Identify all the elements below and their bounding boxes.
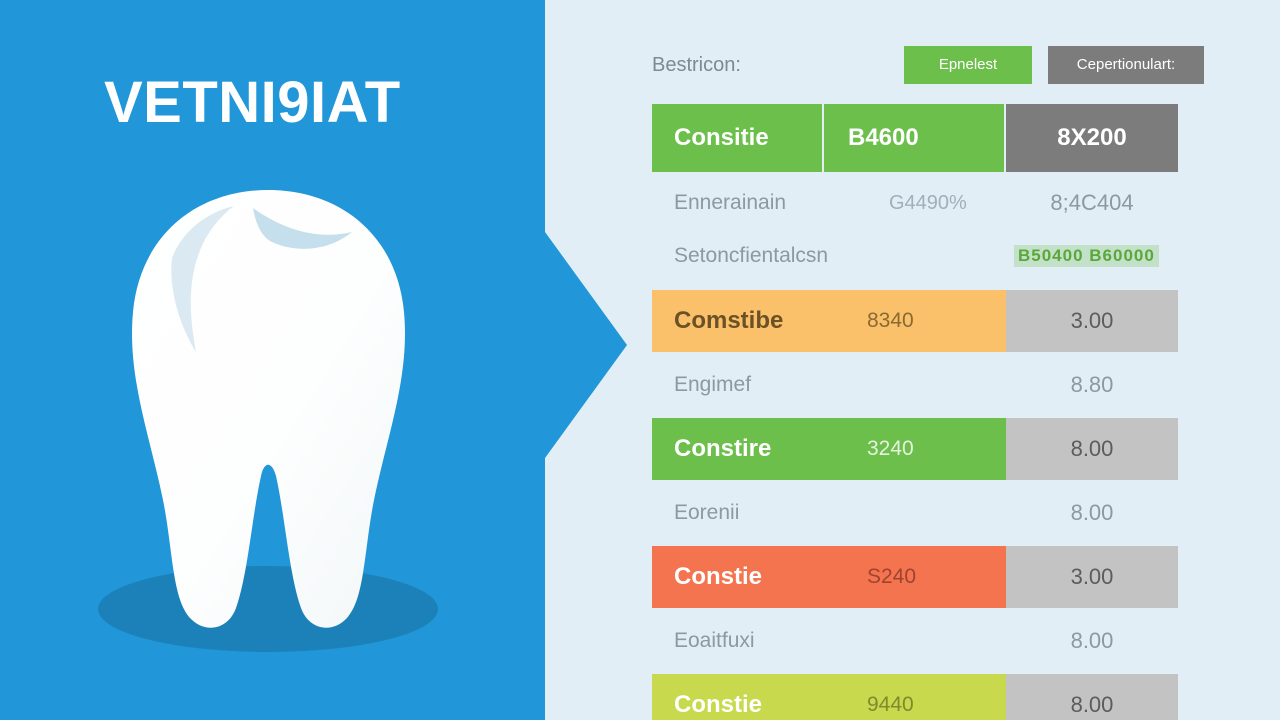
header-label: Bestricon:	[652, 54, 741, 77]
row-cell-label: Engimef	[674, 373, 751, 397]
row-cell-label: Constie	[652, 563, 762, 591]
row-cell-value: 3240	[867, 418, 914, 480]
row-main-cell: Constie	[652, 546, 1006, 608]
right-data-panel: Bestricon: Epnelest Cepertionulart: Cons…	[628, 0, 1280, 720]
row-cell-label: Constire	[652, 435, 771, 463]
row-cell-secondary: 3.00	[1006, 546, 1178, 608]
tooth-shadow	[98, 566, 438, 652]
row-cell-label: Comstibe	[652, 307, 783, 335]
table-row[interactable]: Constire 3240 8.00	[652, 418, 1208, 480]
row-cell-label: Consitie	[652, 104, 822, 172]
row-cell-highlight-value: B50400 B60000	[1014, 245, 1159, 267]
table-row[interactable]: Consitie B4600 8X200	[652, 104, 1208, 172]
table-header: Bestricon: Epnelest Cepertionulart:	[652, 46, 1208, 88]
table-row[interactable]: Constie S240 3.00	[652, 546, 1208, 608]
row-cell-label: Ennerainain	[674, 191, 786, 215]
row-cell-secondary: 8.00	[1006, 628, 1178, 654]
row-main-cell: Constire	[652, 418, 1006, 480]
data-table: Consitie B4600 8X200 Ennerainain G4490% …	[652, 104, 1208, 720]
row-main-cell: Constie	[652, 674, 1006, 720]
row-cell-secondary: 8.80	[1006, 372, 1178, 398]
table-row[interactable]: Eoaitfuxi 8.00	[652, 618, 1208, 664]
row-cell-secondary: 8.00	[1006, 674, 1178, 720]
table-row[interactable]: Setoncfientalcsn B50400 B60000	[652, 236, 1208, 282]
row-cell-secondary: 8.00	[1006, 500, 1178, 526]
row-cell-secondary: 8.00	[1006, 418, 1178, 480]
row-cell-value: 9440	[867, 674, 914, 720]
status-badge-gray[interactable]: Cepertionulart:	[1048, 46, 1204, 84]
row-cell-value: B4600	[824, 104, 1004, 172]
page-title: VETNI9IAT	[104, 74, 401, 132]
row-cell-value: S240	[867, 546, 916, 608]
left-brand-panel: VETNI9IAT	[0, 0, 628, 720]
infographic-canvas: VETNI9IAT Bestricon: Epnelest Cepertionu…	[0, 0, 1280, 720]
row-cell-label: Constie	[652, 691, 762, 719]
row-cell-value: 8340	[867, 290, 914, 352]
status-badge-green[interactable]: Epnelest	[904, 46, 1032, 84]
row-cell-value: G4490%	[889, 192, 967, 215]
row-cell-label: Eoaitfuxi	[674, 629, 755, 653]
table-row[interactable]: Comstibe 8340 3.00	[652, 290, 1208, 352]
row-cell-secondary: 8;4C404	[1006, 190, 1178, 216]
row-cell-secondary: 8X200	[1006, 104, 1178, 172]
row-cell-label: Eorenii	[674, 501, 739, 525]
table-row[interactable]: Constie 9440 8.00	[652, 674, 1208, 720]
row-main-cell: Comstibe	[652, 290, 1006, 352]
table-row[interactable]: Eorenii 8.00	[652, 490, 1208, 536]
table-row[interactable]: Ennerainain G4490% 8;4C404	[652, 180, 1208, 226]
row-cell-label: Setoncfientalcsn	[674, 244, 828, 268]
row-cell-secondary: 3.00	[1006, 290, 1178, 352]
table-row[interactable]: Engimef 8.80	[652, 362, 1208, 408]
